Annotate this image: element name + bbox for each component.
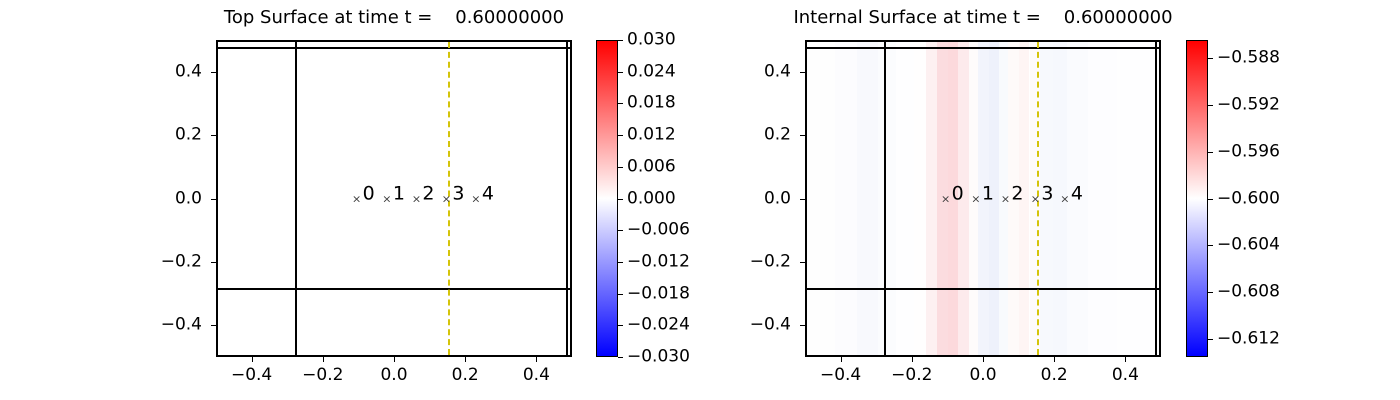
colorbar-tick-label: −0.612	[1217, 331, 1280, 348]
colorbar-top[interactable]: 0.0300.0240.0180.0120.0060.000−0.006−0.0…	[596, 40, 618, 357]
data-point-marker: ×	[352, 193, 361, 204]
yaxis-tick-label: 0.4	[711, 63, 791, 80]
data-point-label: 2	[1011, 184, 1023, 203]
reference-vline-internal-right	[1155, 42, 1157, 355]
colorbar-tick-label: −0.600	[1217, 190, 1280, 207]
heatmap-band	[926, 42, 937, 355]
colorbar-tick	[1208, 105, 1213, 106]
colorbar-gradient-internal	[1186, 40, 1208, 357]
heatmap-band	[914, 42, 926, 355]
data-point-label: 3	[1041, 184, 1053, 203]
colorbar-tick	[618, 103, 623, 104]
reference-hline-internal-lower	[807, 288, 1159, 290]
data-point-label: 3	[452, 184, 464, 203]
colorbar-tick	[618, 135, 623, 136]
heatmap-band	[835, 42, 856, 355]
yaxis-tick-label: −0.2	[122, 253, 202, 270]
xaxis-tick-label: 0.4	[1085, 365, 1165, 385]
colorbar-tick	[618, 294, 623, 295]
heatmap-band	[807, 42, 835, 355]
xaxis-tick-label: 0.2	[1014, 365, 1094, 385]
heatmap-band	[857, 42, 878, 355]
yaxis-tick-label: 0.4	[122, 63, 202, 80]
reference-vline-top-left	[295, 42, 297, 355]
colorbar-tick-label: 0.030	[627, 32, 676, 49]
xaxis-tick-label: −0.4	[212, 365, 292, 385]
yaxis-tick-label: 0.2	[122, 127, 202, 144]
xaxis-tick	[323, 357, 324, 362]
xaxis-tick-label: 0.4	[496, 365, 576, 385]
reference-hline-top-upper	[218, 47, 570, 49]
data-point-marker: ×	[471, 193, 480, 204]
yaxis-tick	[211, 199, 216, 200]
yaxis-tick	[211, 135, 216, 136]
yaxis-tick-label: 0.0	[122, 190, 202, 207]
yaxis-tick-label: 0.0	[711, 190, 791, 207]
colorbar-tick	[1208, 199, 1213, 200]
colorbar-tick-label: 0.012	[627, 127, 676, 144]
colorbar-tick-label: −0.608	[1217, 284, 1280, 301]
xaxis-tick	[465, 357, 466, 362]
colorbar-tick-label: −0.604	[1217, 237, 1280, 254]
colorbar-tick-label: −0.018	[627, 285, 690, 302]
yaxis-tick-label: −0.2	[711, 253, 791, 270]
xaxis-tick	[536, 357, 537, 362]
colorbar-tick	[618, 230, 623, 231]
data-point-marker: ×	[382, 193, 391, 204]
colorbar-tick-label: 0.024	[627, 63, 676, 80]
xaxis-tick-label: 0.2	[425, 365, 505, 385]
colorbar-tick-label: 0.006	[627, 158, 676, 175]
data-point-marker: ×	[412, 193, 421, 204]
colorbar-tick-label: 0.000	[627, 190, 676, 207]
xaxis-tick	[252, 357, 253, 362]
yaxis-tick	[211, 72, 216, 73]
reference-vline-internal-left	[884, 42, 886, 355]
xaxis-tick	[841, 357, 842, 362]
colorbar-tick	[618, 325, 623, 326]
colorbar-tick	[618, 40, 623, 41]
colorbar-tick	[1208, 339, 1213, 340]
xaxis-tick-label: −0.2	[283, 365, 363, 385]
colorbar-tick	[1208, 58, 1213, 59]
colorbar-internal[interactable]: −0.588−0.592−0.596−0.600−0.604−0.608−0.6…	[1186, 40, 1208, 357]
colorbar-tick	[1208, 292, 1213, 293]
data-point-label: 4	[482, 184, 494, 203]
colorbar-tick	[1208, 152, 1213, 153]
yaxis-tick	[800, 262, 805, 263]
xaxis-tick	[912, 357, 913, 362]
data-point-label: 1	[982, 184, 994, 203]
colorbar-tick	[618, 357, 623, 358]
reference-vline-top-right	[566, 42, 568, 355]
xaxis-tick	[394, 357, 395, 362]
xaxis-tick-label: 0.0	[354, 365, 434, 385]
colorbar-tick-label: −0.596	[1217, 143, 1280, 160]
colorbar-tick	[618, 167, 623, 168]
colorbar-tick-label: −0.030	[627, 349, 690, 366]
data-point-marker: ×	[442, 193, 451, 204]
colorbar-tick	[618, 72, 623, 73]
heatmap-band	[878, 42, 896, 355]
xaxis-tick	[1125, 357, 1126, 362]
colorbar-tick-label: −0.012	[627, 253, 690, 270]
yaxis-tick	[211, 262, 216, 263]
figure-canvas: Top Surface at time t = 0.60000000 −0.4−…	[0, 0, 1400, 400]
xaxis-tick-label: −0.4	[801, 365, 881, 385]
data-point-label: 1	[393, 184, 405, 203]
xaxis-tick	[1054, 357, 1055, 362]
colorbar-tick-label: 0.018	[627, 95, 676, 112]
colorbar-tick	[618, 199, 623, 200]
colorbar-tick-label: −0.006	[627, 222, 690, 239]
heatmap-band	[1088, 42, 1116, 355]
data-point-label: 0	[952, 184, 964, 203]
data-point-marker: ×	[971, 193, 980, 204]
data-point-marker: ×	[1001, 193, 1010, 204]
yaxis-tick	[800, 325, 805, 326]
data-point-marker: ×	[941, 193, 950, 204]
yaxis-tick-label: −0.4	[711, 317, 791, 334]
colorbar-tick	[1208, 245, 1213, 246]
data-point-label: 0	[363, 184, 375, 203]
xaxis-tick-label: 0.0	[943, 365, 1023, 385]
data-point-marker: ×	[1060, 193, 1069, 204]
data-point-marker: ×	[1031, 193, 1040, 204]
yaxis-tick	[800, 72, 805, 73]
yaxis-tick	[800, 199, 805, 200]
panel-top-surface[interactable]: −0.4−0.20.00.20.4 0.40.20.0−0.2−0.4 ×0×1…	[216, 40, 572, 357]
colorbar-tick-label: −0.588	[1217, 49, 1280, 66]
yaxis-tick-label: −0.4	[122, 317, 202, 334]
xaxis-tick	[983, 357, 984, 362]
data-point-label: 2	[422, 184, 434, 203]
colorbar-tick-label: −0.024	[627, 317, 690, 334]
yaxis-tick	[211, 325, 216, 326]
colorbar-tick-label: −0.592	[1217, 96, 1280, 113]
yaxis-tick	[800, 135, 805, 136]
colorbar-tick	[618, 262, 623, 263]
reference-hline-internal-upper	[807, 47, 1159, 49]
colorbar-gradient-top	[596, 40, 618, 357]
heatmap-band	[896, 42, 914, 355]
panel-internal-surface[interactable]: −0.4−0.20.00.20.4 0.40.20.0−0.2−0.4 ×0×1…	[805, 40, 1161, 357]
yaxis-tick-label: 0.2	[711, 127, 791, 144]
xaxis-tick-label: −0.2	[872, 365, 952, 385]
data-point-label: 4	[1071, 184, 1083, 203]
reference-hline-top-lower	[218, 288, 570, 290]
panel-title-internal: Internal Surface at time t = 0.60000000	[625, 6, 1341, 30]
